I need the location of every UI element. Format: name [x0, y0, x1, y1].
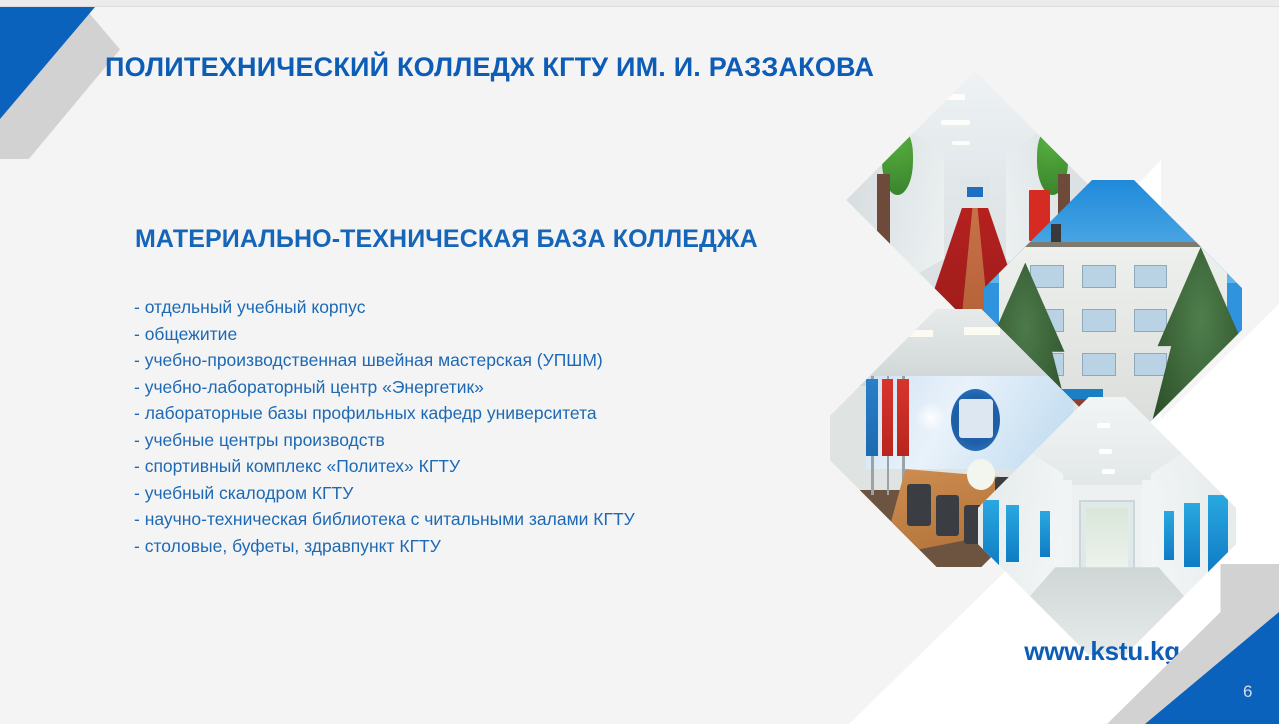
- list-item: - лабораторные базы профильных кафедр ун…: [134, 400, 754, 427]
- list-item: - общежитие: [134, 321, 754, 348]
- list-item: - учебно-производственная швейная мастер…: [134, 347, 754, 374]
- list-item: - учебно-лабораторный центр «Энергетик»: [134, 374, 754, 401]
- list-item: - учебные центры производств: [134, 427, 754, 454]
- page-title: ПОЛИТЕХНИЧЕСКИЙ КОЛЛЕДЖ КГТУ ИМ. И. РАЗЗ…: [105, 52, 874, 83]
- list-item: - отдельный учебный корпус: [134, 294, 754, 321]
- website-link[interactable]: www.kstu.kg: [1024, 636, 1180, 667]
- facilities-list: - отдельный учебный корпус - общежитие -…: [134, 294, 754, 559]
- page-number: 6: [1243, 682, 1253, 702]
- list-item: - учебный скалодром КГТУ: [134, 480, 754, 507]
- list-item: - спортивный комплекс «Политех» КГТУ: [134, 453, 754, 480]
- list-item: - столовые, буфеты, здравпункт КГТУ: [134, 533, 754, 560]
- list-item: - научно-техническая библиотека с читаль…: [134, 506, 754, 533]
- viewer-top-strip: [0, 0, 1279, 7]
- presentation-slide: ПОЛИТЕХНИЧЕСКИЙ КОЛЛЕДЖ КГТУ ИМ. И. РАЗЗ…: [0, 0, 1279, 724]
- section-heading: МАТЕРИАЛЬНО-ТЕХНИЧЕСКАЯ БАЗА КОЛЛЕДЖА: [135, 225, 758, 254]
